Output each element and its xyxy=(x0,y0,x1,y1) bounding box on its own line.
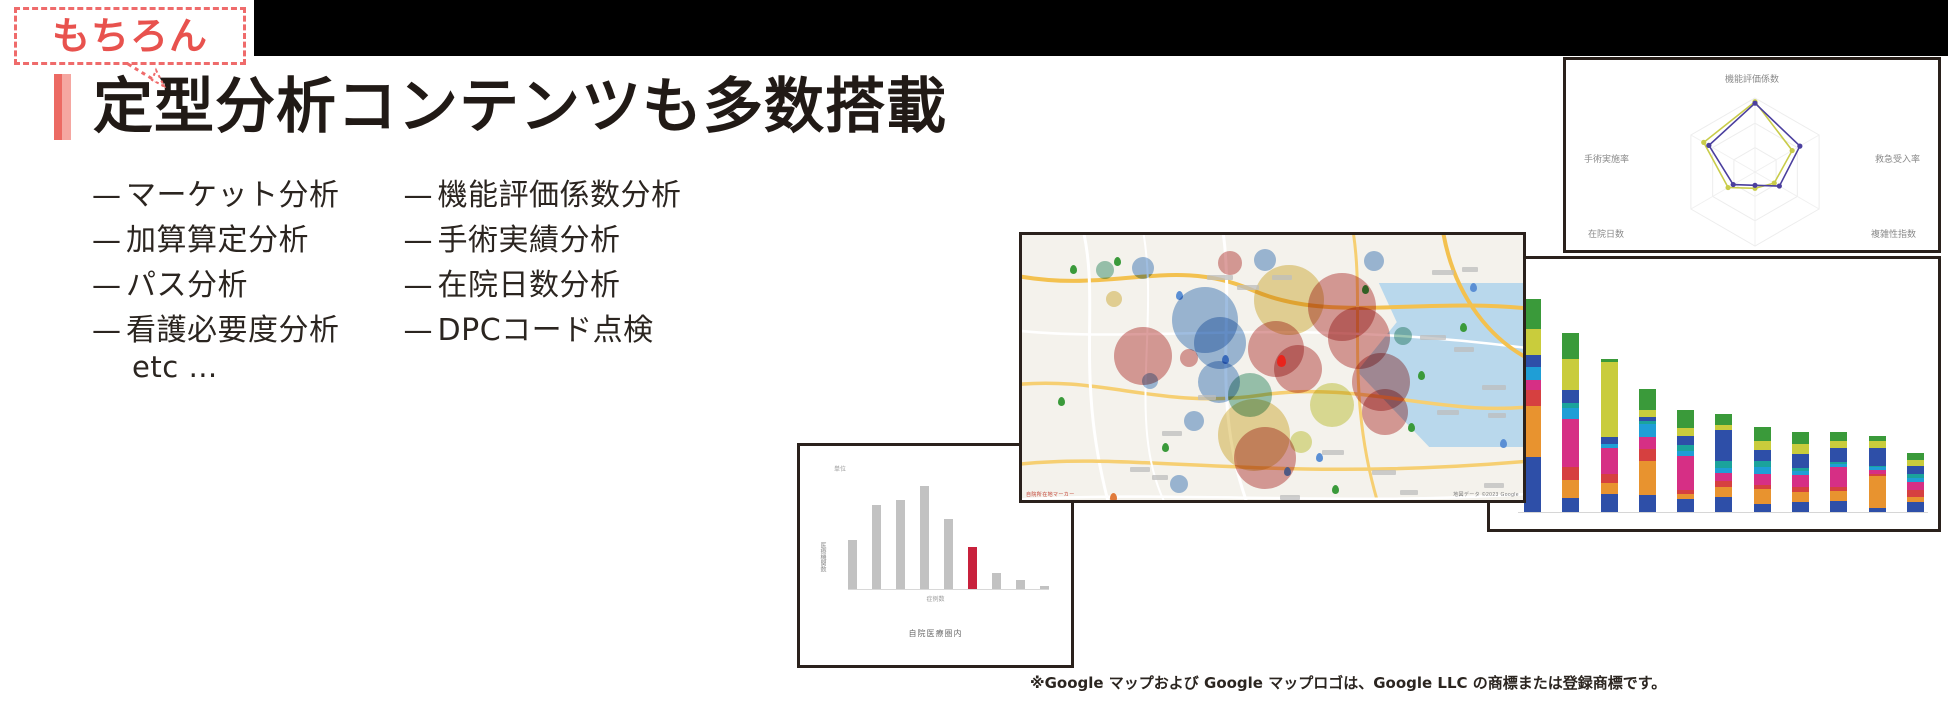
bar-chart-title: 自院医療圏内 xyxy=(800,628,1071,639)
radar-axis-label-bottom-left: 在院日数 xyxy=(1588,227,1624,240)
list-item-label: 手術実績分析 xyxy=(438,215,621,259)
stacked-bar xyxy=(1639,389,1656,513)
map-place-label xyxy=(1482,385,1506,390)
stacked-bar-segment xyxy=(1792,454,1809,468)
stacked-bar-segment xyxy=(1601,448,1618,474)
radar-chart-title: 機能評価係数 xyxy=(1566,72,1938,85)
map-data-bubble xyxy=(1394,327,1412,345)
map-location-pin-icon xyxy=(1058,397,1065,406)
stacked-bar-segment xyxy=(1754,450,1771,460)
map-place-label xyxy=(1484,483,1504,488)
page-title-row: 定型分析コンテンツも多数搭載 xyxy=(54,74,947,140)
stacked-bar-segment xyxy=(1524,380,1541,390)
map-place-label xyxy=(1322,450,1344,455)
stacked-bar-segment xyxy=(1677,410,1694,427)
list-item-label: 在院日数分析 xyxy=(438,260,621,304)
map-data-bubble xyxy=(1132,257,1154,279)
stacked-bar xyxy=(1601,359,1618,513)
stacked-bar-segment xyxy=(1601,362,1618,436)
stacked-bar-segment xyxy=(1677,428,1694,437)
map-data-bubble xyxy=(1274,345,1322,393)
bar-chart-y-axis-label: 医療機関数 xyxy=(818,542,827,572)
bullet-dash-icon: — xyxy=(92,313,126,347)
stacked-bar-segment xyxy=(1524,355,1541,368)
badge-speech-tail-icon xyxy=(126,62,168,88)
stacked-bar-segment xyxy=(1562,467,1579,480)
stacked-bar xyxy=(1869,436,1886,513)
stacked-bar-segment xyxy=(1907,482,1924,490)
map-place-label xyxy=(1462,267,1478,272)
stacked-bar-segment xyxy=(1601,494,1618,513)
stacked-bar-segment xyxy=(1715,430,1732,461)
stacked-bar-segment xyxy=(1869,448,1886,466)
bar-chart-bar xyxy=(920,486,929,589)
stacked-bar xyxy=(1830,431,1847,513)
map-data-bubble xyxy=(1254,249,1276,271)
stacked-bar-segment xyxy=(1524,367,1541,380)
map-data-bubble xyxy=(1096,261,1114,279)
stacked-bar-chart-card[interactable]: ┤ ┤ xyxy=(1487,256,1941,532)
stacked-bar xyxy=(1562,333,1579,513)
stacked-bar-segment xyxy=(1562,333,1579,359)
map-location-pin-icon xyxy=(1460,323,1467,332)
stacked-bar-segment xyxy=(1715,497,1732,513)
bullet-dash-icon: — xyxy=(92,178,126,212)
map-data-bubble xyxy=(1184,411,1204,431)
bar-chart-x-axis-label: 症例数 xyxy=(800,594,1071,603)
map-data-bubble xyxy=(1290,431,1312,453)
map-place-label xyxy=(1372,470,1396,475)
map-place-label xyxy=(1207,275,1233,280)
stacked-bar xyxy=(1524,298,1541,513)
map-attribution-right: 地図データ ©2023 Google xyxy=(1453,491,1519,498)
bar-chart-bar xyxy=(968,547,977,589)
bar-chart-top-note: 単位 xyxy=(834,464,846,473)
map-location-pin-icon xyxy=(1162,443,1169,452)
stacked-bar-segment xyxy=(1754,427,1771,441)
list-item[interactable]: — マーケット分析 xyxy=(92,170,340,215)
stacked-bar-segment xyxy=(1754,441,1771,450)
map-attribution-left: 自院所在地マーカー xyxy=(1026,491,1075,498)
mochiron-badge: もちろん xyxy=(14,7,246,65)
stacked-bar-segment xyxy=(1639,437,1656,449)
map-place-label xyxy=(1488,413,1506,418)
mochiron-badge-label: もちろん xyxy=(52,17,208,55)
stacked-bar-segment xyxy=(1754,474,1771,484)
map-data-bubble xyxy=(1142,373,1158,389)
map-home-marker-icon xyxy=(1277,355,1286,367)
list-item-label: 加算算定分析 xyxy=(126,215,309,259)
stacked-bar-segment xyxy=(1524,457,1541,513)
radar-axis-label-left: 手術実施率 xyxy=(1584,152,1629,165)
stacked-bar-segment xyxy=(1562,390,1579,403)
radar-axis-label-right: 救急受入率 xyxy=(1875,152,1920,165)
map-location-pin-icon xyxy=(1418,371,1425,380)
map-place-label xyxy=(1272,275,1292,280)
map-data-bubble xyxy=(1364,251,1384,271)
stacked-bar-segment xyxy=(1830,491,1847,502)
stacked-bar-segment xyxy=(1754,467,1771,474)
stacked-bar-segment xyxy=(1754,489,1771,504)
stacked-bar-segment xyxy=(1562,359,1579,390)
list-item-label: 看護必要度分析 xyxy=(126,305,340,349)
google-maps-attribution-note: ※Google マップおよび Google マップロゴは、Google LLC … xyxy=(1030,672,1666,693)
stacked-bar-segment xyxy=(1639,410,1656,418)
stacked-bar xyxy=(1754,427,1771,513)
map-location-pin-icon xyxy=(1500,439,1507,448)
stacked-bar-segment xyxy=(1562,480,1579,498)
stacked-bar-segment xyxy=(1562,498,1579,513)
stacked-bar-segment xyxy=(1524,406,1541,457)
bullet-dash-icon: — xyxy=(404,268,438,302)
stacked-bar-segment xyxy=(1792,475,1809,487)
stacked-bar-segment xyxy=(1830,441,1847,448)
bar-chart-bar xyxy=(848,540,857,589)
list-item-label: 機能評価係数分析 xyxy=(438,170,682,214)
stacked-bar xyxy=(1677,410,1694,513)
radar-chart-card[interactable]: 機能評価係数 手術実施率 救急受入率 在院日数 複雑性指数 xyxy=(1563,57,1941,253)
radar-axis-label-bottom-right: 複雑性指数 xyxy=(1871,227,1916,240)
list-item[interactable]: — パス分析 xyxy=(92,260,340,305)
map-place-label xyxy=(1400,490,1418,495)
bar-chart-bar xyxy=(872,505,881,589)
stacked-bar-segment xyxy=(1524,299,1541,330)
stacked-bar-segment xyxy=(1639,461,1656,494)
stacked-bar-segment xyxy=(1830,448,1847,462)
stacked-bar-segment xyxy=(1639,424,1656,438)
bullet-dash-icon: — xyxy=(404,178,438,212)
slide-root: もちろん 定型分析コンテンツも多数搭載 — マーケット分析 — 加算算定分析 —… xyxy=(0,0,1948,714)
map-place-label xyxy=(1437,410,1459,415)
analysis-content-list: — マーケット分析 — 加算算定分析 — パス分析 — 看護必要度分析 etc … xyxy=(92,170,682,395)
map-data-bubble xyxy=(1170,475,1188,493)
bullet-column-left: — マーケット分析 — 加算算定分析 — パス分析 — 看護必要度分析 etc … xyxy=(92,170,340,395)
map-data-bubble xyxy=(1180,349,1198,367)
map-place-label xyxy=(1162,431,1182,436)
list-item[interactable]: — DPCコード点検 xyxy=(404,305,682,350)
stacked-bar-segment xyxy=(1715,473,1732,481)
stacked-chart-x-axis xyxy=(1518,512,1928,513)
list-item-label: etc … xyxy=(126,350,218,384)
bar-chart-bar xyxy=(1016,580,1025,589)
stacked-bar xyxy=(1907,453,1924,513)
map-place-label xyxy=(1237,285,1259,290)
stacked-bar-segment xyxy=(1869,476,1886,508)
stacked-bar-segment xyxy=(1677,499,1694,514)
stacked-bar-segment xyxy=(1524,390,1541,405)
list-item[interactable]: — 機能評価係数分析 xyxy=(404,170,682,215)
title-accent-bar xyxy=(54,74,71,140)
list-item[interactable]: — 手術実績分析 xyxy=(404,215,682,260)
stacked-bar-segment xyxy=(1869,441,1886,448)
stacked-bar-segment xyxy=(1792,444,1809,454)
map-data-bubble xyxy=(1362,389,1408,435)
stacked-bar-segment xyxy=(1677,456,1694,489)
stacked-bar-segment xyxy=(1562,419,1579,467)
map-place-label xyxy=(1432,270,1454,275)
map-data-bubble xyxy=(1310,383,1354,427)
stacked-bar-segment xyxy=(1639,495,1656,513)
map-location-pin-icon xyxy=(1114,257,1121,266)
stacked-bar-segment xyxy=(1907,490,1924,497)
stacked-bar-segment xyxy=(1639,389,1656,410)
map-location-pin-icon xyxy=(1408,423,1415,432)
list-item-label: DPCコード点検 xyxy=(438,305,654,349)
bullet-dash-icon: — xyxy=(92,223,126,257)
bar-chart-bar xyxy=(992,573,1001,589)
map-location-pin-icon xyxy=(1470,283,1477,292)
list-item[interactable]: — 在院日数分析 xyxy=(404,260,682,305)
stacked-bar-segment xyxy=(1601,474,1618,483)
bar-chart-bar xyxy=(1040,586,1049,590)
map-data-bubble xyxy=(1218,251,1242,275)
stacked-bar-segment xyxy=(1601,483,1618,494)
stacked-bar xyxy=(1792,431,1809,513)
bullet-column-right: — 機能評価係数分析 — 手術実績分析 — 在院日数分析 — DPCコード点検 xyxy=(404,170,682,395)
map-place-label xyxy=(1280,495,1300,500)
map-data-bubble xyxy=(1234,427,1296,489)
stacked-bar-segment xyxy=(1715,487,1732,497)
list-item-etc: etc … xyxy=(92,350,340,395)
stacked-bar-segment xyxy=(1792,492,1809,502)
stacked-bar-segment xyxy=(1830,432,1847,442)
bullet-dash-icon: — xyxy=(404,223,438,257)
stacked-bar-segment xyxy=(1715,414,1732,424)
stacked-bar xyxy=(1715,414,1732,513)
list-item-label: マーケット分析 xyxy=(126,170,340,214)
stacked-bar-segment xyxy=(1639,449,1656,461)
stacked-bar-segment xyxy=(1907,453,1924,460)
stacked-bar-segment xyxy=(1907,466,1924,474)
map-location-pin-icon xyxy=(1332,485,1339,494)
map-place-label xyxy=(1198,395,1216,400)
stacked-bar-segment xyxy=(1524,329,1541,355)
list-item[interactable]: — 看護必要度分析 xyxy=(92,305,340,350)
list-item[interactable]: — 加算算定分析 xyxy=(92,215,340,260)
map-place-label xyxy=(1130,467,1150,472)
map-location-pin-icon xyxy=(1070,265,1077,274)
stacked-bar-segment xyxy=(1792,432,1809,444)
bullet-dash-icon: — xyxy=(404,313,438,347)
map-location-pin-icon xyxy=(1110,493,1117,502)
stacked-bar-segment xyxy=(1830,467,1847,486)
map-place-label xyxy=(1454,347,1474,352)
map-place-label xyxy=(1420,335,1446,340)
map-bubble-chart-card[interactable]: 自院所在地マーカー 地図データ ©2023 Google xyxy=(1019,232,1526,503)
stacked-bar-segment xyxy=(1562,408,1579,419)
bullet-dash-icon: — xyxy=(92,268,126,302)
list-item-label: パス分析 xyxy=(126,260,248,304)
bar-chart-bar xyxy=(944,519,953,589)
map-place-label xyxy=(1152,475,1168,480)
stacked-bar-segment xyxy=(1601,437,1618,444)
top-black-band xyxy=(0,0,1948,56)
page-title: 定型分析コンテンツも多数搭載 xyxy=(93,77,947,137)
map-data-bubble xyxy=(1106,291,1122,307)
stacked-bar-segment xyxy=(1677,436,1694,445)
bar-chart-bar xyxy=(896,500,905,589)
stacked-bar-chart-plot xyxy=(1524,277,1924,513)
